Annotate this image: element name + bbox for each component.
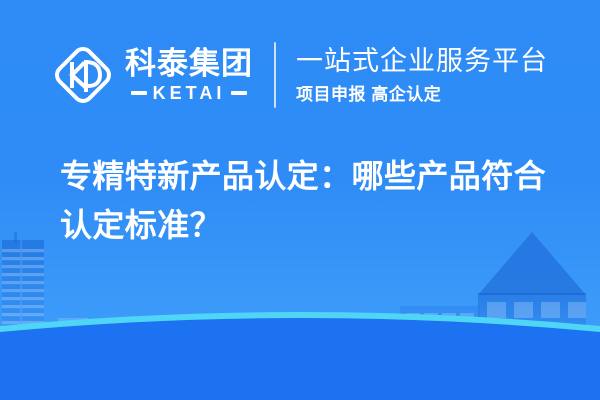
slogan-secondary: 项目申报 高企认定 bbox=[296, 86, 548, 103]
brand-dash-left-icon bbox=[131, 91, 147, 95]
brand-wordmark: 科泰集团 KETAI bbox=[125, 48, 253, 102]
curved-band-icon bbox=[0, 310, 600, 400]
brand-name-en: KETAI bbox=[153, 84, 226, 102]
promo-banner: 科泰集团 KETAI 一站式企业服务平台 项目申报 高企认定 专精特新产品认定：… bbox=[0, 0, 600, 400]
brand-dash-right-icon bbox=[231, 91, 247, 95]
low-rise-icon bbox=[58, 318, 122, 356]
slogan-primary: 一站式企业服务平台 bbox=[296, 48, 548, 75]
skyscraper-icon bbox=[2, 232, 44, 355]
office-building-icon bbox=[478, 232, 587, 364]
brand-lockup: 科泰集团 KETAI bbox=[52, 44, 253, 106]
page-title: 专精特新产品认定：哪些产品符合认定标准？ bbox=[60, 152, 560, 249]
slogan-block: 一站式企业服务平台 项目申报 高企认定 bbox=[296, 48, 548, 103]
vertical-divider bbox=[274, 42, 276, 108]
low-rise-right-icon bbox=[400, 306, 480, 356]
brand-name-en-row: KETAI bbox=[125, 84, 253, 102]
brand-name-cn: 科泰集团 bbox=[125, 48, 253, 79]
ketai-diamond-monogram-icon bbox=[52, 44, 114, 106]
banner-header: 科泰集团 KETAI 一站式企业服务平台 项目申报 高企认定 bbox=[0, 0, 600, 150]
